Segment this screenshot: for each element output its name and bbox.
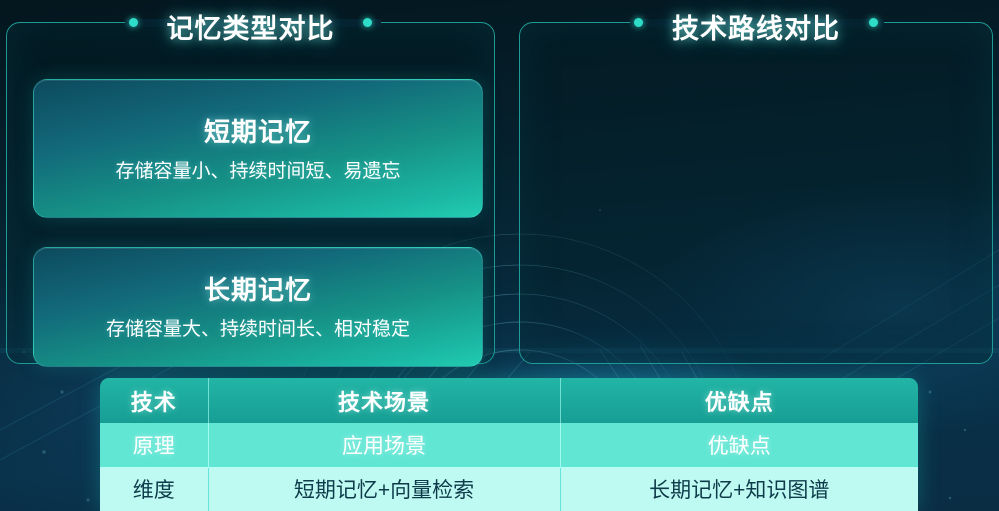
- card-title-short-term: 短期记忆: [204, 112, 312, 149]
- panel-title-dot-left: [634, 18, 643, 27]
- panel-title-tech-routes: 技术路线对比: [656, 7, 856, 46]
- panel-title-dot-left: [129, 18, 138, 27]
- table-header-cell-1: 技术场景: [208, 378, 560, 423]
- table-header-cell-0: 技术: [100, 378, 208, 423]
- panel-memory-types: 记忆类型对比 短期记忆 存储容量小、持续时间短、易遗忘 长期记忆 存储容量大、持…: [6, 22, 495, 364]
- table-header: 技术 技术场景 优缺点: [100, 378, 918, 423]
- table-cell-r1c0: 维度: [100, 467, 208, 511]
- panel-title-memory-types: 记忆类型对比: [151, 7, 351, 46]
- comparison-table-element: 技术 技术场景 优缺点 原理 应用场景 优缺点 维度 短期记忆+向量检索 长期记…: [100, 378, 918, 511]
- table-cell-r0c2: 优缺点: [560, 423, 918, 467]
- table-cell-r0c1: 应用场景: [208, 423, 560, 467]
- table-row: 维度 短期记忆+向量检索 长期记忆+知识图谱: [100, 467, 918, 511]
- panel-title-dot-right: [363, 18, 372, 27]
- card-short-term-memory[interactable]: 短期记忆 存储容量小、持续时间短、易遗忘: [33, 79, 483, 218]
- table-body: 原理 应用场景 优缺点 维度 短期记忆+向量检索 长期记忆+知识图谱: [100, 423, 918, 511]
- comparison-table: 技术 技术场景 优缺点 原理 应用场景 优缺点 维度 短期记忆+向量检索 长期记…: [100, 378, 918, 511]
- table-header-cell-2: 优缺点: [560, 378, 918, 423]
- table-header-row: 技术 技术场景 优缺点: [100, 378, 918, 423]
- card-long-term-memory[interactable]: 长期记忆 存储容量大、持续时间长、相对稳定: [33, 247, 483, 367]
- panel-title-dot-right: [869, 18, 878, 27]
- table-row: 原理 应用场景 优缺点: [100, 423, 918, 467]
- card-desc-long-term: 存储容量大、持续时间长、相对稳定: [106, 317, 410, 343]
- card-title-long-term: 长期记忆: [204, 270, 312, 307]
- card-desc-short-term: 存储容量小、持续时间短、易遗忘: [115, 159, 400, 185]
- table-cell-r1c1: 短期记忆+向量检索: [208, 467, 560, 511]
- table-cell-r1c2: 长期记忆+知识图谱: [560, 467, 918, 511]
- table-cell-r0c0: 原理: [100, 423, 208, 467]
- panel-tech-routes: 技术路线对比 向量检索 基于向量空间相似度检索、适用于非结构化数据 知识图谱 基…: [519, 22, 993, 364]
